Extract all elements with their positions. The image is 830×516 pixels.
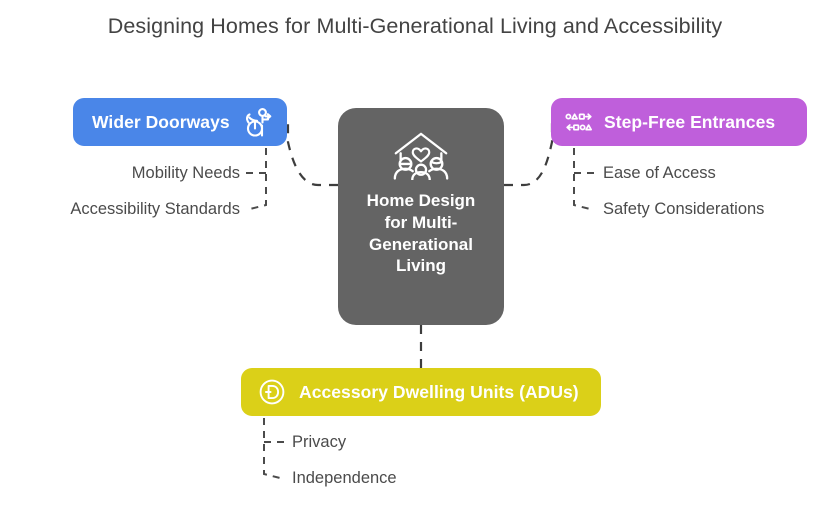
mindmap-canvas: Designing Homes for Multi-Generational L… [0, 0, 830, 516]
center-node-label: Home Design for Multi-Generational Livin… [361, 190, 481, 277]
leaf-label-mobility-needs: Mobility Needs [0, 164, 240, 183]
edge-center-to-stepfree [504, 122, 552, 185]
shapes-transfer-icon [565, 108, 593, 136]
center-node[interactable]: Home Design for Multi-Generational Livin… [338, 108, 504, 325]
branch-label-wider-doorways: Wider Doorways [92, 112, 230, 133]
family-home-heart-icon [390, 130, 452, 180]
branch-label-accessory-dwelling-units: Accessory Dwelling Units (ADUs) [299, 382, 579, 403]
edge-center-to-doorways [288, 122, 338, 185]
wheelchair-accessibility-icon [243, 107, 273, 137]
leaf-label-ease-of-access: Ease of Access [603, 164, 716, 183]
circled-d-icon [257, 377, 287, 407]
branch-label-step-free-entrances: Step-Free Entrances [604, 112, 775, 133]
leaf-label-accessibility-standards: Accessibility Standards [0, 200, 240, 219]
leaf-label-safety-considerations: Safety Considerations [603, 200, 764, 219]
branch-node-accessory-dwelling-units[interactable]: Accessory Dwelling Units (ADUs) [241, 368, 601, 416]
branch-node-wider-doorways[interactable]: Wider Doorways [73, 98, 287, 146]
leaf-label-independence: Independence [292, 469, 397, 488]
branch-node-step-free-entrances[interactable]: Step-Free Entrances [551, 98, 807, 146]
leaf-label-privacy: Privacy [292, 433, 346, 452]
page-title: Designing Homes for Multi-Generational L… [0, 14, 830, 39]
